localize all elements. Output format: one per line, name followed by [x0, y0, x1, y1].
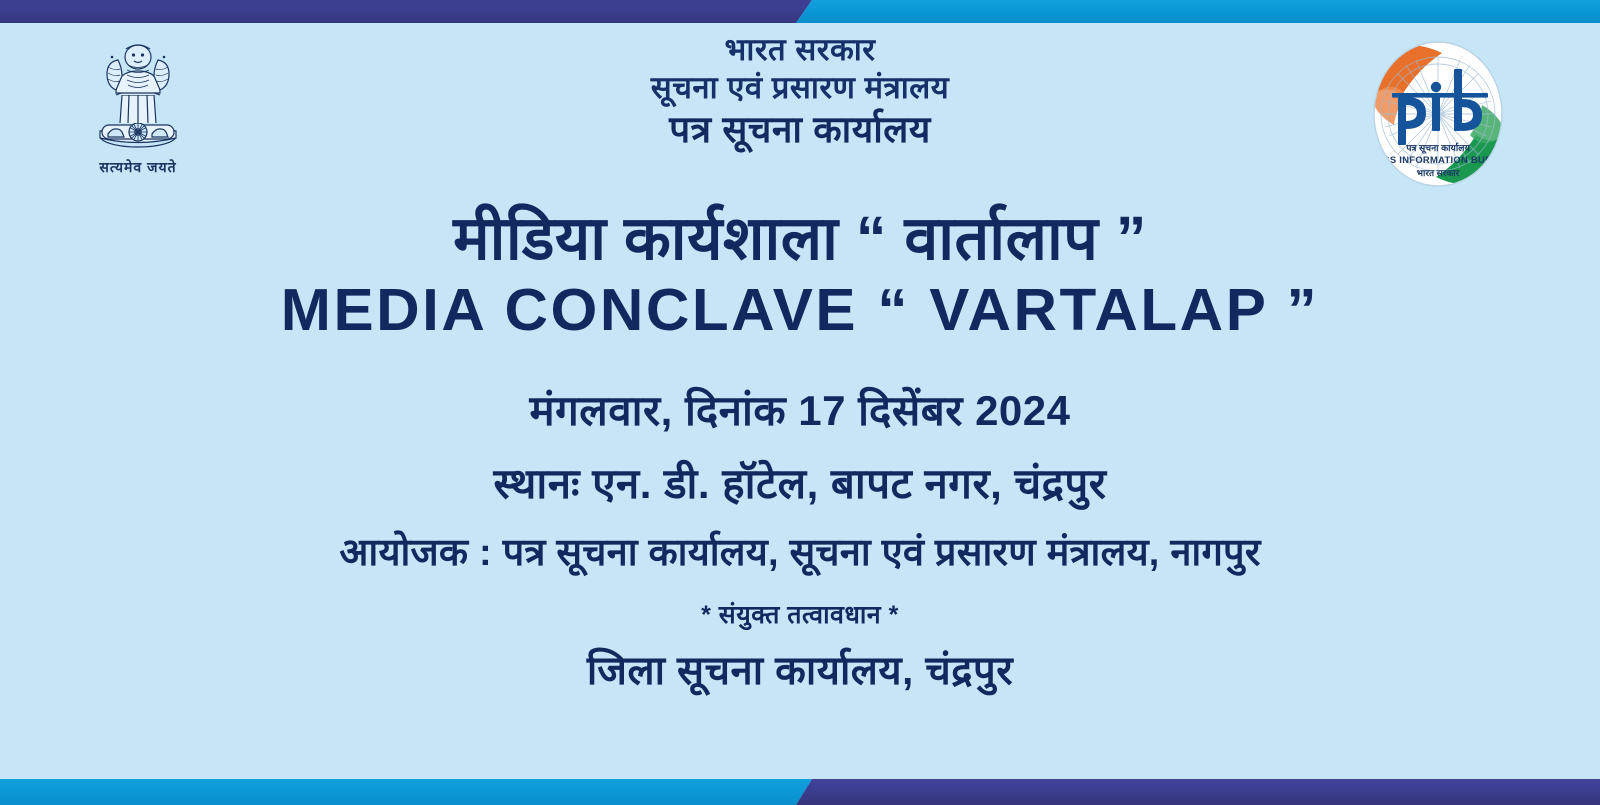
top-bar-indigo-segment — [0, 0, 812, 23]
event-co-organiser: जिला सूचना कार्यालय, चंद्रपुर — [0, 648, 1600, 694]
event-auspices-label: * संयुक्त तत्वावधान * — [0, 601, 1600, 630]
banner-main-content: मीडिया कार्यशाला “ वार्तालाप ” MEDIA CON… — [0, 198, 1600, 694]
pib-label: पत्र सूचना कार्यालय — [0, 107, 1600, 154]
bottom-bar-cyan-segment — [0, 779, 812, 805]
event-date: मंगलवार, दिनांक 17 दिसेंबर 2024 — [0, 387, 1600, 435]
event-title-hindi: मीडिया कार्यशाला “ वार्तालाप ” — [0, 204, 1600, 272]
svg-text:भारत सरकार: भारत सरकार — [1417, 168, 1460, 178]
banner-header: सत्यमेव जयते भारत सरकार सूचना एवं प्रसार… — [0, 23, 1600, 198]
ministry-label: सूचना एवं प्रसारण मंत्रालय — [0, 69, 1600, 107]
top-decorative-bar — [0, 0, 1600, 23]
top-bar-cyan-segment — [796, 0, 1600, 23]
government-identity-text: भारत सरकार सूचना एवं प्रसारण मंत्रालय पत… — [0, 31, 1600, 153]
event-organiser: आयोजक : पत्र सूचना कार्यालय, सूचना एवं प… — [0, 532, 1600, 576]
pib-logo-block: पत्र सूचना कार्यालय PRESS INFORMATION BU… — [1368, 39, 1508, 189]
pib-logo-icon: पत्र सूचना कार्यालय PRESS INFORMATION BU… — [1368, 39, 1508, 189]
gov-of-india-label: भारत सरकार — [0, 31, 1600, 69]
bottom-bar-indigo-segment — [796, 779, 1600, 805]
bottom-decorative-bar — [0, 779, 1600, 805]
event-venue: स्थानः एन. डी. हॉटेल, बापट नगर, चंद्रपुर — [0, 460, 1600, 508]
event-title-english: MEDIA CONCLAVE “ VARTALAP ” — [0, 278, 1600, 343]
svg-text:पत्र सूचना कार्यालय: पत्र सूचना कार्यालय — [1405, 142, 1470, 154]
emblem-motto: सत्यमेव जयते — [78, 158, 198, 177]
event-banner: सत्यमेव जयते भारत सरकार सूचना एवं प्रसार… — [0, 0, 1600, 805]
